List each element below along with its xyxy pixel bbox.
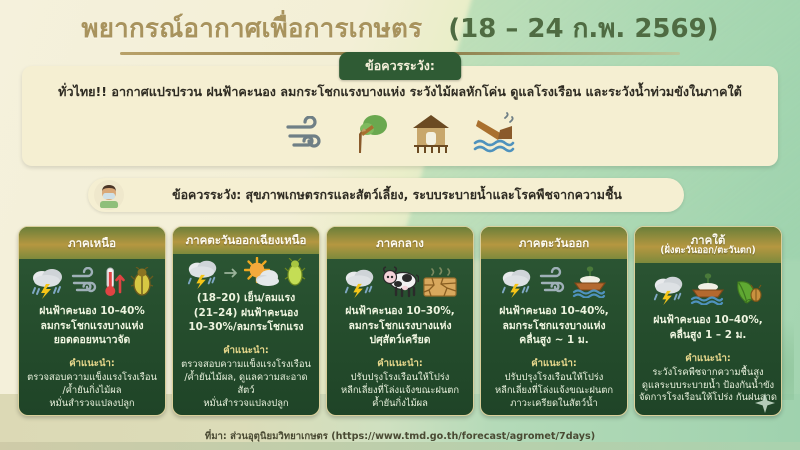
region-icon-row	[173, 254, 319, 291]
boat-waves-icon	[690, 273, 726, 305]
sparkle-icon	[755, 393, 775, 413]
source-credit: ที่มา: ส่วนอุตุนิยมวิทยาเกษตร (https://w…	[0, 429, 800, 444]
region-card-east[interactable]: ภาคตะวันออก	[480, 226, 628, 416]
thunderstorm-icon	[30, 265, 66, 299]
region-recommendation: ตรวจสอบความแข็งแรงโรงเรือน/ค้ำยันกิ่งไม้…	[19, 371, 165, 415]
region-summary: ฝนฟ้าคะนอง 10–30%,ลมกระโชกแรงบางแห่งปศุส…	[327, 304, 473, 348]
flooded-field-icon	[472, 112, 516, 154]
boat-waves-icon	[572, 266, 608, 298]
region-card-list: ภาคเหนือ	[18, 226, 782, 416]
advisory-strip: ข้อควรระวัง: สุขภาพเกษตรกรและสัตว์เลี้ยง…	[88, 178, 684, 212]
region-card-south[interactable]: ภาคใต้ (ฝั่งตะวันออก/ตะวันตก)	[634, 226, 782, 416]
leaf-pest-icon	[730, 273, 764, 305]
recommendation-label: คำแนะนำ:	[635, 351, 781, 366]
thunderstorm-icon	[500, 265, 534, 299]
advisory-text: ข้อควรระวัง: สุขภาพเกษตรกรและสัตว์เลี้ยง…	[124, 186, 684, 205]
thunderstorm-icon	[186, 256, 220, 290]
region-recommendation: ปรับปรุงโรงเรือนให้โปร่งหลีกเลี่ยงที่โล่…	[327, 371, 473, 415]
region-icon-row	[327, 259, 473, 304]
recommendation-label: คำแนะนำ:	[327, 356, 473, 371]
sun-behind-cloud-icon	[244, 257, 280, 289]
wind-icon	[284, 116, 328, 154]
region-card-header: ภาคใต้ (ฝั่งตะวันออก/ตะวันตก)	[635, 227, 781, 263]
beetle-icon	[130, 267, 154, 297]
region-card-central[interactable]: ภาคกลาง	[326, 226, 474, 416]
region-card-north[interactable]: ภาคเหนือ	[18, 226, 166, 416]
thunderstorm-icon	[343, 265, 377, 299]
arrow-right-icon	[224, 266, 240, 280]
infographic-root: พยากรณ์อากาศเพื่อการเกษตร (18 – 24 ก.พ. …	[0, 0, 800, 450]
region-card-header: ภาคเหนือ	[19, 227, 165, 259]
region-name: ภาคกลาง	[376, 237, 424, 249]
thunderstorm-icon	[652, 272, 686, 306]
broken-tree-icon	[348, 112, 390, 154]
warning-pill-label: ข้อควรระวัง:	[339, 52, 461, 80]
region-summary: ฝนฟ้าคะนอง 10–40%,ลมกระโชกแรงบางแห่งคลื่…	[481, 304, 627, 348]
region-icon-row	[481, 259, 627, 304]
page-header: พยากรณ์อากาศเพื่อการเกษตร (18 – 24 ก.พ. …	[0, 8, 800, 55]
thermometer-up-icon	[104, 266, 126, 298]
green-insect-icon	[284, 258, 306, 288]
region-name: ภาคตะวันออก	[519, 237, 589, 249]
region-summary: ฝนฟ้าคะนอง 10–40%,คลื่นสูง 1 – 2 ม.	[635, 313, 781, 343]
cow-icon	[381, 266, 419, 298]
recommendation-label: คำแนะนำ:	[19, 356, 165, 371]
region-recommendation: ตรวจสอบความแข็งแรงโรงเรือน/ค้ำยันไม้ผล, …	[173, 358, 319, 415]
region-card-header: ภาคตะวันออกเฉียงเหนือ	[173, 227, 319, 254]
region-name: ภาคเหนือ	[68, 237, 116, 249]
date-range: (18 – 24 ก.พ. 2569)	[448, 8, 718, 49]
greenhouse-icon	[410, 112, 452, 154]
wind-icon	[70, 267, 100, 297]
page-title: พยากรณ์อากาศเพื่อการเกษตร	[81, 8, 422, 49]
region-card-header: ภาคกลาง	[327, 227, 473, 259]
region-summary: (18–20) เย็น/ลมแรง(21–24) ฝนฟ้าคะนอง10–3…	[173, 291, 319, 335]
region-card-northeast[interactable]: ภาคตะวันออกเฉียงเหนือ	[172, 226, 320, 416]
region-name-sub: (ฝั่งตะวันออก/ตะวันตก)	[660, 246, 756, 256]
region-name: ภาคตะวันออกเฉียงเหนือ	[186, 234, 307, 246]
region-icon-row	[635, 263, 781, 313]
warning-icon-row	[22, 108, 778, 154]
recommendation-label: คำแนะนำ:	[173, 343, 319, 358]
warning-text: ทั่วไทย!! อากาศแปรปรวน ฝนฟ้าคะนอง ลมกระโ…	[22, 84, 778, 99]
region-recommendation: ปรับปรุงโรงเรือนให้โปร่งหลีกเลี่ยงที่โล่…	[481, 371, 627, 415]
region-card-header: ภาคตะวันออก	[481, 227, 627, 259]
region-name: ภาคใต้ (ฝั่งตะวันออก/ตะวันตก)	[660, 234, 756, 256]
region-icon-row	[19, 259, 165, 304]
warning-panel: ทั่วไทย!! อากาศแปรปรวน ฝนฟ้าคะนอง ลมกระโ…	[22, 66, 778, 166]
masked-farmer-icon	[94, 180, 124, 210]
cracked-soil-icon	[423, 267, 457, 297]
region-summary: ฝนฟ้าคะนอง 10–40%ลมกระโชกแรงบางแห่งยอดดอ…	[19, 304, 165, 348]
wind-icon	[538, 267, 568, 297]
recommendation-label: คำแนะนำ:	[481, 356, 627, 371]
